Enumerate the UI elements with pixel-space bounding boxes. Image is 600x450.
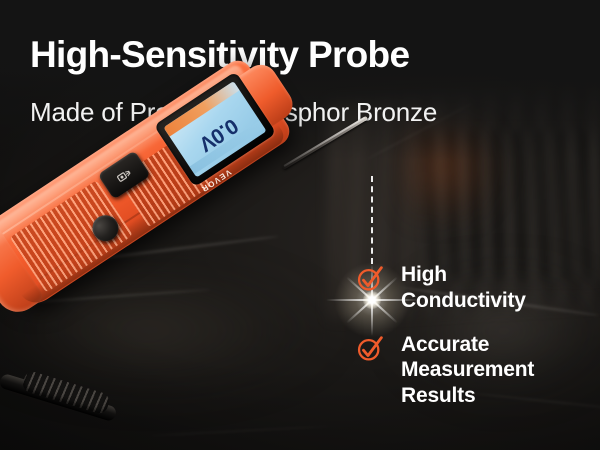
cable-strain-relief — [21, 370, 111, 416]
product-banner: High-Sensitivity Probe Made of Premium P… — [0, 0, 600, 450]
feature-list: HighConductivity AccurateMeasurementResu… — [356, 262, 596, 427]
feature-label: HighConductivity — [401, 262, 526, 314]
feature-label: AccurateMeasurementResults — [401, 332, 534, 409]
lamp-icon — [113, 165, 135, 186]
feature-item: AccurateMeasurementResults — [356, 332, 596, 409]
feature-item: HighConductivity — [356, 262, 596, 314]
check-circle-icon — [356, 264, 384, 292]
callout-dashed-line — [371, 176, 373, 264]
product-image: 0.0V VEVOR — [18, 150, 388, 450]
check-circle-icon — [356, 334, 384, 362]
